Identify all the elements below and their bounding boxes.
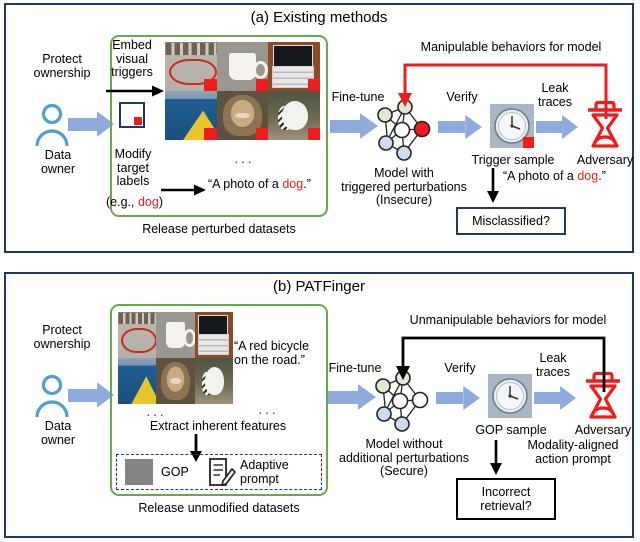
panel-b-output-prompt: Modality-aligned action prompt	[508, 439, 638, 466]
panel-b-title: (b) PATFinger	[6, 278, 632, 295]
panel-a-release-label: Release perturbed datasets	[110, 223, 328, 237]
panel-a-title: (a) Existing methods	[6, 9, 632, 26]
panel-b-grid-ellipsis-right: ···	[258, 404, 278, 420]
trigger-patch-icon	[119, 102, 145, 128]
panel-b-result-box: Incorrect retrieval?	[456, 478, 556, 520]
panel-b-image-grid	[118, 312, 233, 404]
unmanipulable-feedback-arrow	[392, 330, 622, 392]
white-pitcher-photo	[217, 42, 269, 91]
red-bicycle-photo	[165, 42, 217, 91]
panel-b-data-owner-label: Data owner	[12, 420, 104, 447]
panel-a-example-label: (e.g., dog)	[106, 196, 182, 210]
trigger-patch-overlay	[308, 128, 320, 140]
trigger-patch-overlay	[256, 128, 268, 140]
figure-root: (a) Existing methods Protect ownership D…	[0, 0, 640, 542]
panel-b-model-label: Model without additional perturbations (…	[322, 438, 486, 479]
trigger-patch-overlay	[523, 137, 534, 148]
panel-b-prompt-label: Adaptive prompt	[240, 459, 310, 486]
blue-arrow-dataset-to-model	[330, 113, 378, 139]
panel-existing-methods: (a) Existing methods Protect ownership D…	[4, 3, 634, 253]
trigger-patch-overlay	[204, 79, 216, 91]
panel-b-release-label: Release unmodified datasets	[110, 502, 328, 516]
panel-b-sample-label: GOP sample	[468, 424, 554, 438]
ptarmigan-bird-photo	[195, 358, 233, 404]
panel-a-model-label: Model with triggered perturbations (Inse…	[324, 167, 484, 208]
panel-a-data-owner-label: Data owner	[12, 149, 104, 176]
panel-a-feedback-label: Manipulable behaviors for model	[386, 41, 636, 55]
yellow-kayak-photo	[165, 91, 217, 140]
ptarmigan-bird-photo	[268, 91, 320, 140]
blue-arrow-owner-to-dataset	[68, 111, 114, 137]
trigger-patch-overlay	[204, 128, 216, 140]
tabby-cat-photo	[217, 91, 269, 140]
laptop-photo	[195, 312, 233, 358]
panel-a-sample-label: Trigger sample	[468, 154, 558, 168]
panel-b-protect-ownership-label: Protect ownership	[16, 324, 108, 351]
panel-a-grid-ellipsis: ···	[234, 153, 254, 169]
laptop-photo	[268, 42, 320, 91]
panel-b-caption-text: “A red bicycle on the road.”	[234, 340, 334, 367]
person-icon	[34, 374, 70, 418]
red-bicycle-photo	[118, 312, 156, 358]
panel-a-output-class: dog	[577, 169, 598, 183]
panel-a-image-grid	[165, 42, 320, 140]
panel-a-example-class: dog	[138, 195, 159, 209]
manipulable-feedback-arrow	[394, 57, 624, 119]
panel-a-result-arrow	[486, 168, 500, 204]
yellow-kayak-photo	[118, 358, 156, 404]
panel-b-gop-label: GOP	[161, 466, 201, 480]
panel-b-adversary-label: Adversary	[567, 424, 639, 438]
blue-arrow-dataset-to-model	[328, 384, 376, 410]
panel-a-caption-text: “A photo of a dog.”	[208, 178, 338, 192]
panel-a-caption-class: dog	[282, 177, 303, 191]
panel-b-result-arrow	[489, 440, 503, 476]
panel-a-output-prompt: “A photo of a dog.”	[503, 170, 640, 184]
trigger-patch-overlay	[256, 79, 268, 91]
trigger-patch-overlay	[308, 79, 320, 91]
white-pitcher-photo	[156, 312, 194, 358]
tabby-cat-photo	[156, 358, 194, 404]
embed-arrow-icon	[106, 85, 164, 97]
panel-b-extract-label: Extract inherent features	[118, 420, 318, 434]
gray-noise-patch-icon	[125, 459, 153, 485]
blue-arrow-owner-to-dataset	[68, 382, 114, 408]
document-pencil-icon	[206, 457, 236, 488]
panel-patfinger: (b) PATFinger Protect ownership Data own…	[4, 272, 634, 538]
panel-a-result-box: Misclassified?	[456, 207, 566, 235]
person-icon	[34, 103, 70, 147]
panel-a-embed-label: Embed visual triggers	[104, 39, 160, 80]
panel-a-protect-ownership-label: Protect ownership	[16, 53, 108, 80]
modify-arrow-icon	[161, 184, 206, 196]
panel-b-feedback-label: Unmanipulable behaviors for model	[380, 314, 636, 328]
panel-a-adversary-label: Adversary	[569, 154, 640, 168]
panel-a-modify-label: Modify target labels	[104, 148, 162, 189]
